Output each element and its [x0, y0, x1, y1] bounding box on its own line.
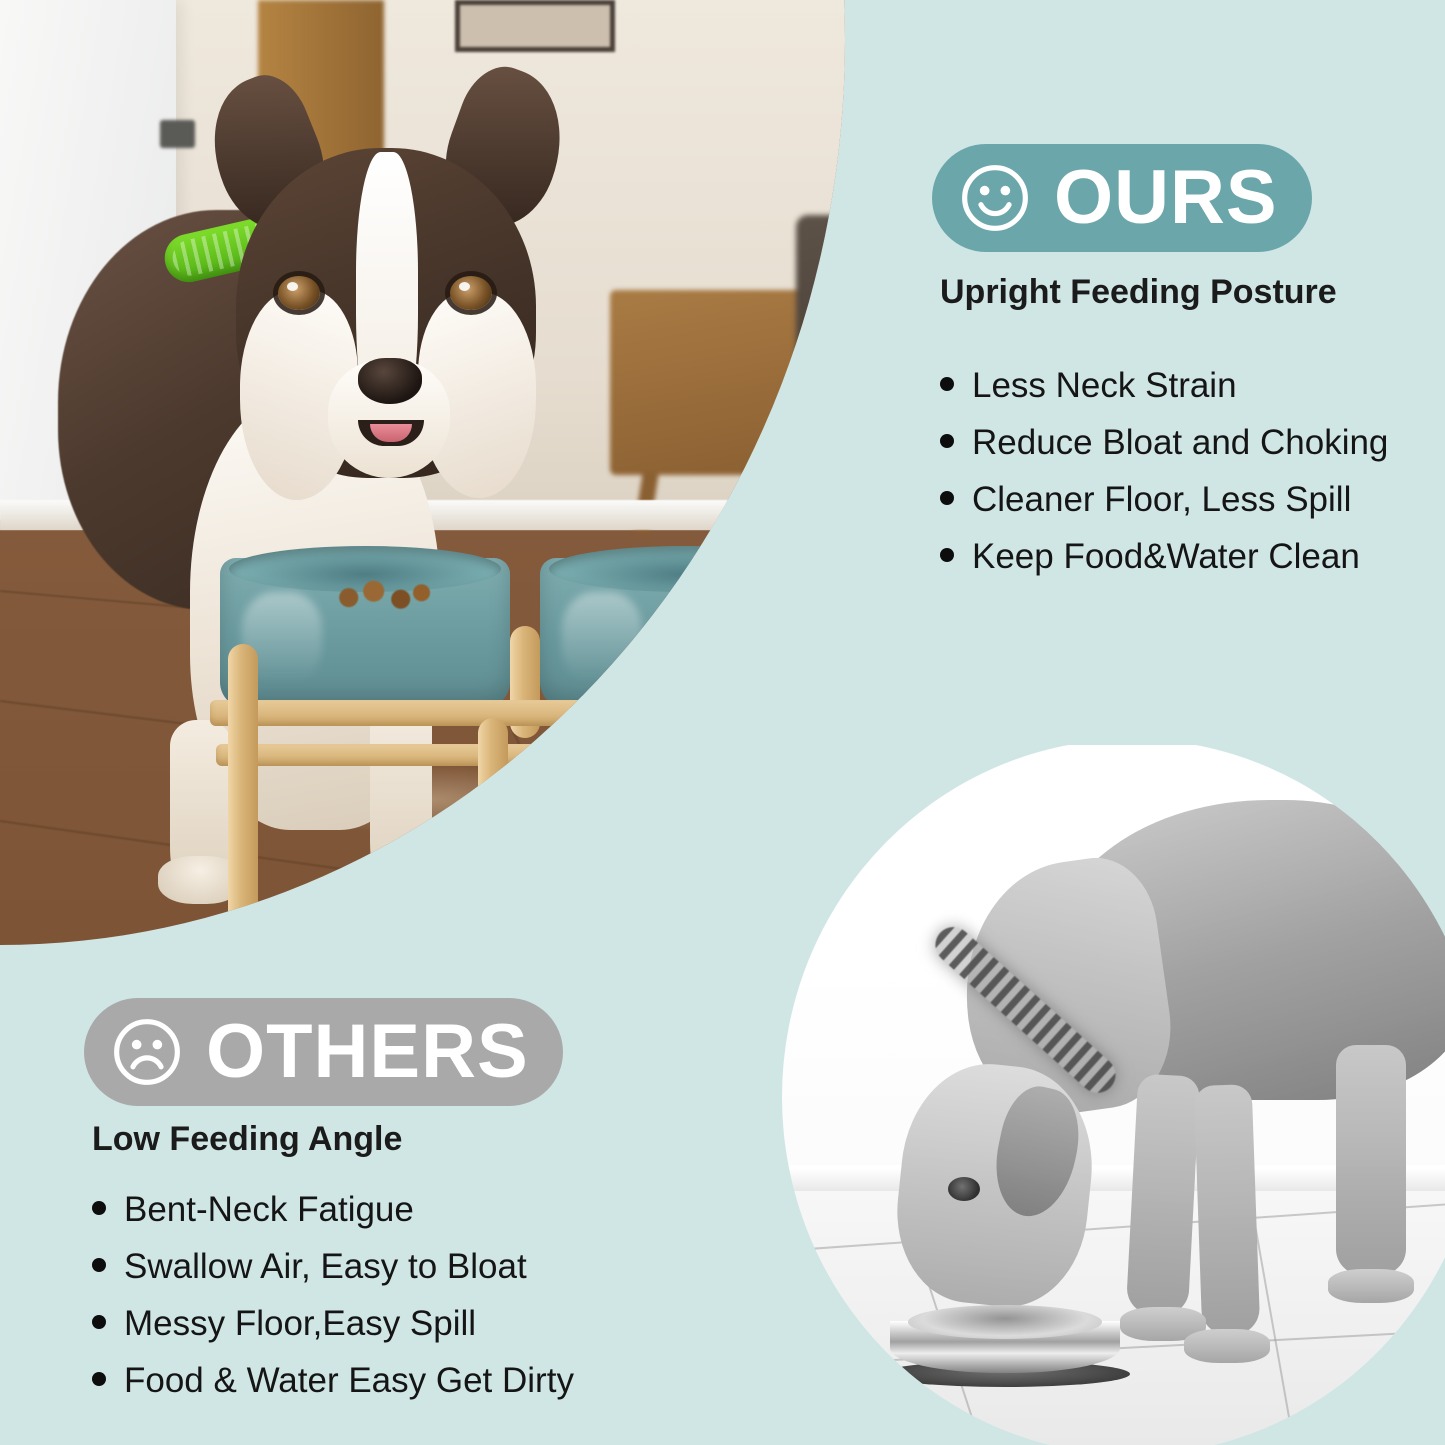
list-item-label: Reduce Bloat and Choking	[972, 425, 1388, 460]
list-item-label: Swallow Air, Easy to Bloat	[124, 1249, 527, 1284]
sofa	[796, 215, 880, 450]
bullet-dot-icon	[92, 1372, 106, 1386]
dog-front-leg	[1194, 1084, 1261, 1336]
product-comparison-infographic: OURS Upright Feeding Posture Less Neck S…	[0, 0, 1445, 1445]
stand-leg	[228, 644, 258, 934]
ceramic-food-bowl	[220, 558, 510, 708]
sad-face-icon	[110, 1015, 184, 1089]
bowl-rim	[908, 1305, 1102, 1339]
stand-foot-pad	[748, 890, 782, 906]
list-item: Keep Food&Water Clean	[940, 539, 1388, 574]
dog-hind-leg	[1336, 1045, 1406, 1275]
ours-heading: Upright Feeding Posture	[940, 273, 1337, 312]
ours-badge: OURS	[932, 144, 1312, 252]
stand-rail-top	[210, 700, 870, 726]
ceramic-water-bowl	[540, 558, 830, 708]
list-item-label: Messy Floor,Easy Spill	[124, 1306, 476, 1341]
stand-leg	[478, 718, 508, 918]
others-badge: OTHERS	[84, 998, 563, 1106]
bullet-dot-icon	[940, 377, 954, 391]
others-drawback-list: Bent-Neck Fatigue Swallow Air, Easy to B…	[92, 1192, 574, 1420]
dog-paw	[1184, 1329, 1270, 1363]
stainless-steel-floor-bowl	[880, 1305, 1130, 1391]
dog-eye-left	[278, 276, 320, 310]
others-badge-label: OTHERS	[206, 1014, 529, 1090]
dog-eye-right	[450, 276, 492, 310]
photo-others-floor-bowl	[780, 745, 1445, 1445]
list-item-label: Food & Water Easy Get Dirty	[124, 1363, 574, 1398]
room-scene	[0, 0, 880, 945]
others-heading: Low Feeding Angle	[92, 1120, 402, 1159]
bullet-dot-icon	[940, 548, 954, 562]
bullet-dot-icon	[940, 491, 954, 505]
stand-foot-pad	[476, 914, 510, 930]
dog-eye	[948, 1177, 980, 1201]
bullet-dot-icon	[92, 1315, 106, 1329]
stand-rail-lower	[216, 744, 862, 766]
list-item: Swallow Air, Easy to Bloat	[92, 1249, 574, 1284]
list-item-label: Bent-Neck Fatigue	[124, 1192, 414, 1227]
bullet-dot-icon	[92, 1258, 106, 1272]
photo-ours-elevated-feeder	[0, 0, 880, 945]
stand-leg	[750, 634, 780, 894]
dog-front-leg	[1126, 1074, 1200, 1317]
elevated-bamboo-bowl-stand	[210, 548, 870, 933]
list-item-label: Cleaner Floor, Less Spill	[972, 482, 1351, 517]
list-item: Cleaner Floor, Less Spill	[940, 482, 1388, 517]
wall-picture-frame	[455, 0, 615, 52]
bullet-dot-icon	[92, 1201, 106, 1215]
ours-benefit-list: Less Neck Strain Reduce Bloat and Chokin…	[940, 368, 1388, 596]
bowl-base-ring	[560, 696, 810, 716]
list-item-label: Less Neck Strain	[972, 368, 1237, 403]
bullet-dot-icon	[940, 434, 954, 448]
dog-paw	[1328, 1269, 1414, 1303]
dog-food-kibble	[330, 580, 434, 612]
list-item: Reduce Bloat and Choking	[940, 425, 1388, 460]
list-item: Messy Floor,Easy Spill	[92, 1306, 574, 1341]
list-item: Food & Water Easy Get Dirty	[92, 1363, 574, 1398]
stand-foot-pad	[226, 930, 260, 945]
list-item: Bent-Neck Fatigue	[92, 1192, 574, 1227]
dog-paw	[358, 856, 442, 904]
list-item: Less Neck Strain	[940, 368, 1388, 403]
list-item-label: Keep Food&Water Clean	[972, 539, 1360, 574]
dog-nose	[358, 358, 422, 404]
ours-badge-label: OURS	[1054, 160, 1278, 236]
smiley-face-icon	[958, 161, 1032, 235]
